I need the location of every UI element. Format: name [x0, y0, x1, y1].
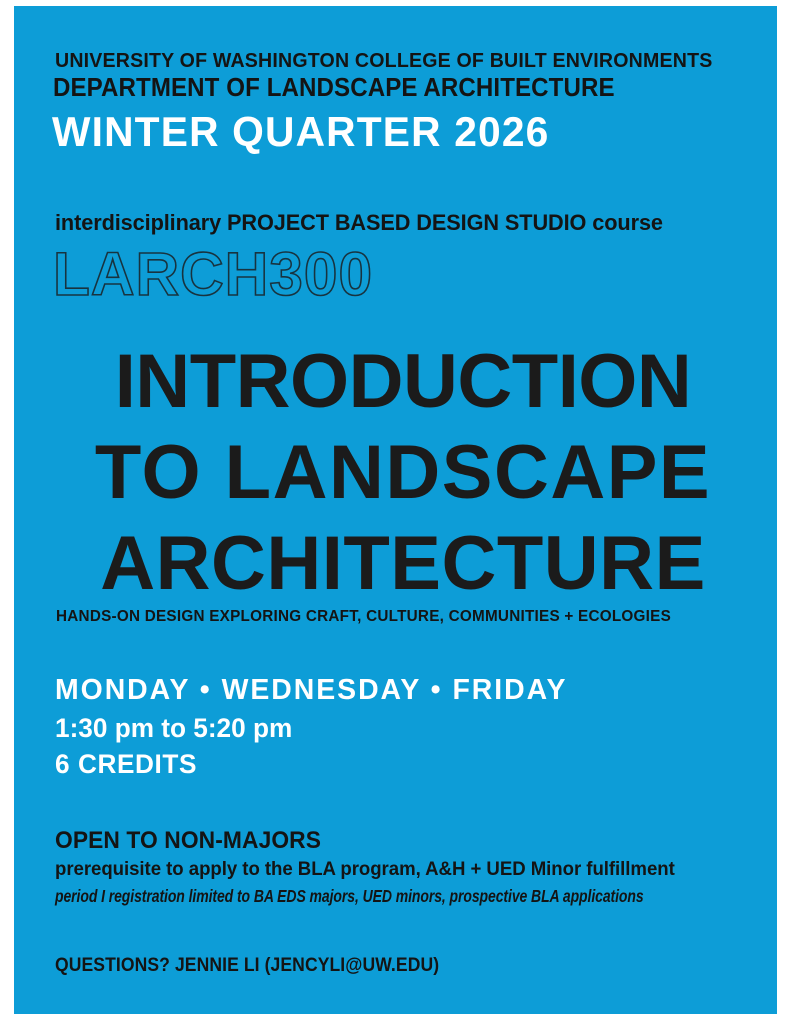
- schedule-days: MONDAY • WEDNESDAY • FRIDAY: [55, 671, 731, 710]
- poster-title: INTRODUCTION TO LANDSCAPE ARCHITECTURE: [61, 336, 745, 609]
- university-line: UNIVERSITY OF WASHINGTON COLLEGE OF BUIL…: [55, 48, 714, 73]
- poster-content-column: UNIVERSITY OF WASHINGTON COLLEGE OF BUIL…: [55, 6, 745, 1014]
- schedule-credits: 6 CREDITS: [55, 746, 724, 782]
- course-code-outline: LARCH300: [53, 241, 738, 307]
- tagline-text: HANDS-ON DESIGN EXPLORING CRAFT, CULTURE…: [56, 607, 736, 627]
- poster-tagline: HANDS-ON DESIGN EXPLORING CRAFT, CULTURE…: [56, 607, 746, 627]
- eligibility-registration-note: period I registration limited to BA EDS …: [55, 883, 607, 909]
- schedule-time: 1:30 pm to 5:20 pm: [55, 710, 724, 746]
- poster-header: UNIVERSITY OF WASHINGTON COLLEGE OF BUIL…: [55, 48, 745, 158]
- course-identity-block: interdisciplinary PROJECT BASED DESIGN S…: [55, 209, 745, 307]
- contact-block: QUESTIONS? JENNIE LI (JENCYLI@UW.EDU): [55, 952, 745, 978]
- title-line-3: ARCHITECTURE: [61, 518, 745, 609]
- title-line-2: TO LANDSCAPE: [61, 427, 745, 518]
- eligibility-block: OPEN TO NON-MAJORS prerequisite to apply…: [55, 826, 745, 909]
- schedule-block: MONDAY • WEDNESDAY • FRIDAY 1:30 pm to 5…: [55, 671, 745, 782]
- course-kicker: interdisciplinary PROJECT BASED DESIGN S…: [55, 209, 721, 237]
- poster-canvas: UNIVERSITY OF WASHINGTON COLLEGE OF BUIL…: [14, 6, 777, 1014]
- course-kicker-suffix: course: [586, 210, 663, 235]
- course-kicker-prefix: interdisciplinary: [55, 210, 227, 235]
- course-kicker-emphasis: PROJECT BASED DESIGN STUDIO: [227, 210, 586, 235]
- department-line: DEPARTMENT OF LANDSCAPE ARCHITECTURE: [53, 73, 707, 104]
- title-line-1: INTRODUCTION: [61, 336, 745, 427]
- eligibility-prerequisite: prerequisite to apply to the BLA program…: [55, 856, 714, 883]
- quarter-line: WINTER QUARTER 2026: [52, 106, 724, 158]
- eligibility-heading: OPEN TO NON-MAJORS: [55, 826, 711, 856]
- contact-text: QUESTIONS? JENNIE LI (JENCYLI@UW.EDU): [55, 952, 676, 978]
